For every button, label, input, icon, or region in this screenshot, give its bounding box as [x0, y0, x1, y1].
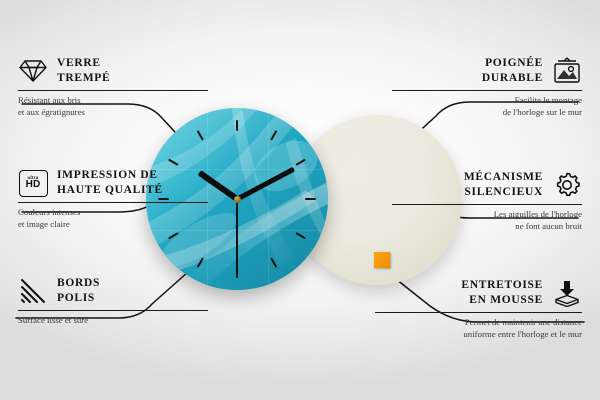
feature-title-line2: DURABLE	[482, 72, 543, 84]
feature-poignee-durable: POIGNÉE DURABLE Facilite le montage de l…	[392, 56, 582, 119]
feature-title-line1: ENTRETOISE	[461, 279, 543, 291]
gear-icon	[552, 170, 582, 200]
feature-divider	[18, 310, 208, 311]
feature-title-line2: TREMPÉ	[57, 72, 110, 84]
feature-subtitle-line2: uniforme entre l'horloge et le mur	[463, 329, 582, 339]
feature-verre-trempe: VERRE TREMPÉ Résistant aux bris et aux é…	[18, 56, 208, 119]
foam-spacer-square	[374, 252, 390, 268]
feature-subtitle-line2: et aux égratignures	[18, 107, 85, 117]
feature-title-line2: POLIS	[57, 292, 95, 304]
infographic-canvas: VERRE TREMPÉ Résistant aux bris et aux é…	[0, 0, 600, 400]
feature-title-line1: MÉCANISME	[464, 171, 543, 183]
feature-subtitle-line1: Facilite le montage	[515, 95, 582, 105]
ultra-hd-icon: ultra HD	[18, 168, 48, 198]
feature-bords-polis: BORDS POLIS Surface lisse et sûre	[18, 276, 208, 327]
feature-title-line2: SILENCIEUX	[464, 186, 543, 198]
feature-subtitle-line2: et image claire	[18, 219, 70, 229]
feature-divider	[392, 204, 582, 205]
feature-title-line1: POIGNÉE	[485, 57, 543, 69]
feature-divider	[375, 312, 582, 313]
feature-divider	[18, 202, 208, 203]
polished-edges-icon	[18, 276, 48, 306]
feature-mecanisme-silencieux: MÉCANISME SILENCIEUX Les aiguilles de l'…	[392, 170, 582, 233]
feature-divider	[18, 90, 208, 91]
picture-hanger-icon	[552, 56, 582, 86]
feature-title-line1: BORDS	[57, 277, 100, 289]
feature-title-line1: IMPRESSION DE	[57, 169, 158, 181]
feature-title-line2: EN MOUSSE	[469, 294, 543, 306]
feature-subtitle-line1: Résistant aux bris	[18, 95, 81, 105]
feature-subtitle-line1: Les aiguilles de l'horloge	[494, 209, 582, 219]
foam-spacer-icon	[552, 278, 582, 308]
feature-subtitle-line2: ne font aucun bruit	[515, 221, 582, 231]
feature-subtitle-line1: Permet de maintenir une distance	[465, 317, 582, 327]
feature-title-line1: VERRE	[57, 57, 101, 69]
feature-subtitle-line1: Surface lisse et sûre	[18, 315, 88, 325]
clock-minute-hand	[236, 167, 295, 201]
feature-impression-haute-qualite: ultra HD IMPRESSION DE HAUTE QUALITÉ Cou…	[18, 168, 208, 231]
clock-center-cap	[234, 196, 241, 203]
clock-second-hand	[236, 199, 238, 269]
diamond-icon	[18, 56, 48, 86]
ultra-hd-big-label: HD	[26, 180, 41, 190]
feature-entretoise-en-mousse: ENTRETOISE EN MOUSSE Permet de maintenir…	[375, 278, 582, 341]
feature-divider	[392, 90, 582, 91]
feature-title-line2: HAUTE QUALITÉ	[57, 184, 163, 196]
feature-subtitle-line1: Couleurs intenses	[18, 207, 80, 217]
feature-subtitle-line2: de l'horloge sur le mur	[503, 107, 582, 117]
